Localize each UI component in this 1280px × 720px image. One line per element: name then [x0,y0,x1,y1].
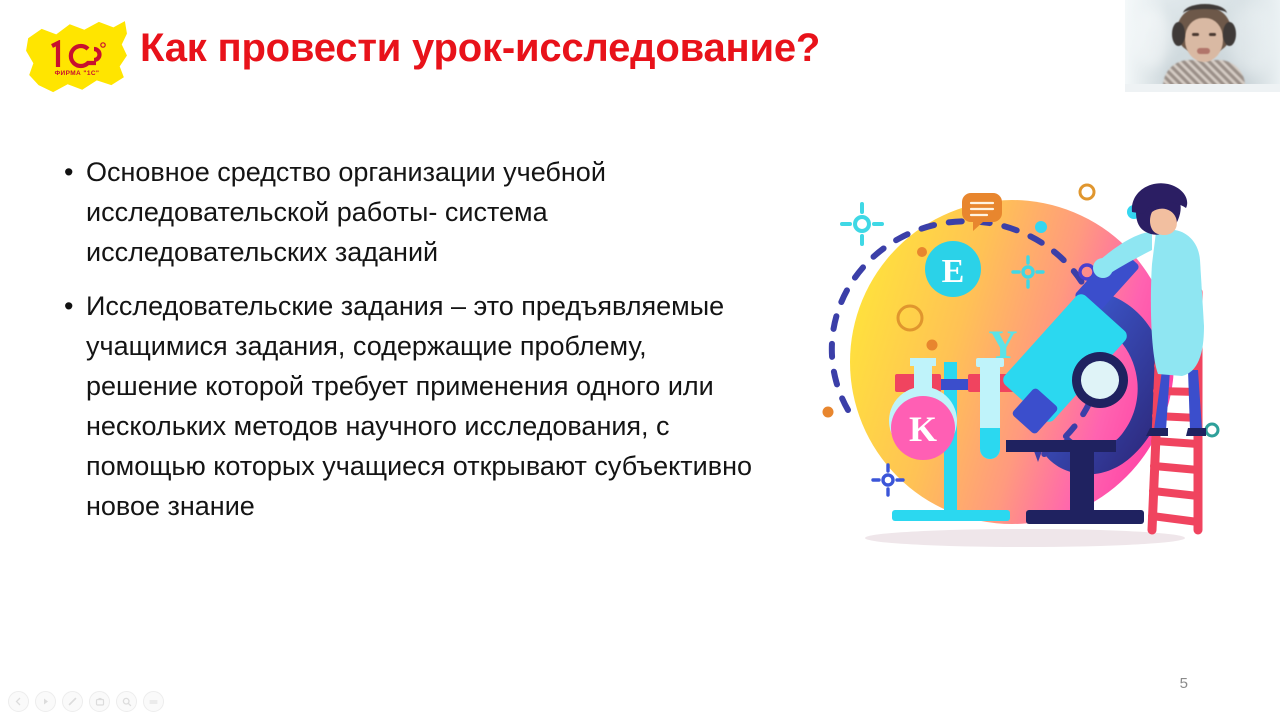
page-number: 5 [1180,675,1188,692]
page-title: Как провести урок-исследование? [140,26,820,71]
1c-logo: ФИРМА "1С" [24,18,128,96]
badge-letter-k: K [909,409,937,449]
zoom-button[interactable] [116,691,137,712]
sparkle-icon-top-left [842,204,882,244]
microscope-lens [1081,361,1119,399]
bullet-marker: • [64,152,86,192]
person-shoe-right [1186,428,1206,436]
bullet-text: Исследовательские задания – это предъявл… [86,286,764,526]
presenter-face [1185,18,1223,62]
presentation-slide: ФИРМА "1С" Как провести урок-исследовани… [0,0,1280,720]
ring-dot-orange-top [1080,185,1094,199]
badge-letter-e: E [925,241,981,297]
headphone-band-icon [1183,4,1227,23]
science-research-illustration: E Y K [800,140,1250,580]
logo-caption: ФИРМА "1С" [44,70,110,77]
presenter-mouth [1197,48,1210,54]
bullet-item: • Исследовательские задания – это предъя… [64,286,764,526]
ring-dot-teal-right [1206,424,1218,436]
webcam-bottom-strip [1125,84,1280,92]
person-body [1151,230,1204,376]
webcam-video-thumbnail[interactable] [1125,0,1280,92]
dot-orange-b [927,340,938,351]
presenter-eye-right [1209,33,1216,36]
pen-tool-button[interactable] [62,691,83,712]
ground-shadow [865,529,1185,547]
webcam-vignette-right [1244,0,1280,92]
presenter-eye-left [1192,33,1199,36]
person-hand [1093,258,1113,278]
headphone-cup-left [1172,22,1185,46]
microscope-stage [1006,440,1116,452]
bullet-text: Основное средство организации учебной ис… [86,152,764,272]
dot-cyan-small [1035,221,1047,233]
bullet-marker: • [64,286,86,326]
screen-share-button[interactable] [89,691,110,712]
headphone-cup-right [1223,22,1236,46]
microscope-base [1026,510,1144,524]
microscope-neck [1070,452,1094,510]
play-button[interactable] [35,691,56,712]
test-tube [976,358,1004,459]
bullet-item: • Основное средство организации учебной … [64,152,764,272]
player-toolbar [8,691,164,712]
webcam-vignette-left [1125,0,1167,92]
slide-header: ФИРМА "1С" Как провести урок-исследовани… [0,0,1100,110]
logo-mark-1c-icon [44,40,108,70]
slide-body-text: • Основное средство организации учебной … [64,152,764,540]
dot-orange-c [823,407,834,418]
svg-text:E: E [942,253,965,290]
dot-orange-a [917,247,927,257]
previous-slide-button[interactable] [8,691,29,712]
more-options-button[interactable] [143,691,164,712]
